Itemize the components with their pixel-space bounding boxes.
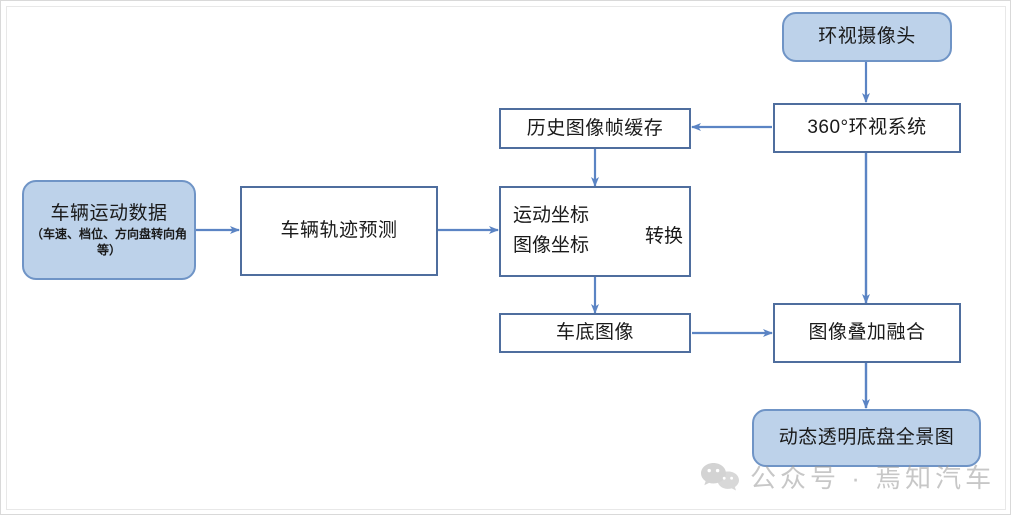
node-surround-view-system[interactable]: 360°环视系统	[773, 103, 961, 153]
node-surround-camera[interactable]: 环视摄像头	[782, 12, 952, 62]
node-title: 车辆运动数据	[50, 202, 167, 226]
conversion-label: 转换	[645, 221, 683, 248]
node-title: 360°环视系统	[807, 116, 926, 140]
node-title: 动态透明底盘全景图	[779, 426, 955, 450]
watermark: 公众号 · 焉知汽车	[700, 458, 995, 495]
watermark-text: 公众号 · 焉知汽车	[750, 458, 995, 495]
node-vehicle-motion-data[interactable]: 车辆运动数据 （车速、档位、方向盘转向角等）	[22, 180, 196, 280]
node-title: 环视摄像头	[818, 25, 916, 49]
diagram-canvas: 车辆运动数据 （车速、档位、方向盘转向角等） 车辆轨迹预测 历史图像帧缓存 运动…	[0, 0, 1012, 516]
node-underbody-image[interactable]: 车底图像	[499, 313, 691, 353]
node-title: 历史图像帧缓存	[527, 117, 664, 141]
node-trajectory-prediction[interactable]: 车辆轨迹预测	[240, 186, 438, 276]
node-subtitle: （车速、档位、方向盘转向角等）	[24, 227, 194, 258]
coord-motion-label: 运动坐标	[513, 205, 589, 228]
node-title: 图像叠加融合	[808, 321, 925, 345]
node-image-overlay-fusion[interactable]: 图像叠加融合	[773, 303, 961, 363]
node-title: 车辆轨迹预测	[280, 219, 397, 243]
wechat-icon	[700, 461, 740, 493]
node-title: 车底图像	[556, 321, 634, 345]
coord-image-label: 图像坐标	[513, 235, 589, 258]
node-history-frame-buffer[interactable]: 历史图像帧缓存	[499, 108, 691, 149]
